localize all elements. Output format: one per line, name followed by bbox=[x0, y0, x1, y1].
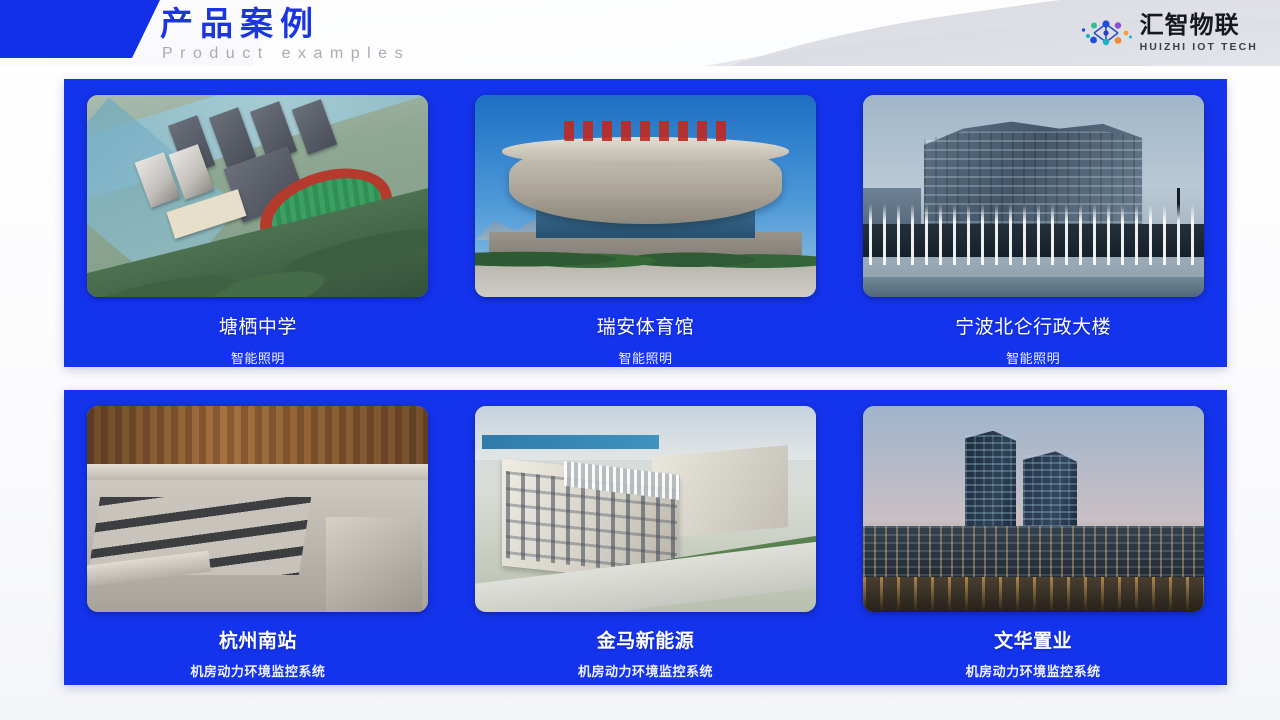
header-bottom-edge bbox=[0, 66, 1280, 72]
case-title: 宁波北仑行政大楼 bbox=[955, 312, 1111, 339]
molecule-network-icon bbox=[1080, 13, 1132, 53]
case-photo-hangzhou-south-station[interactable] bbox=[87, 406, 428, 612]
case-panel-row-2: 杭州南站 机房动力环境监控系统 金马新能源 bbox=[64, 390, 1227, 685]
case-subtitle: 机房动力环境监控系统 bbox=[966, 661, 1101, 680]
case-subtitle: 智能照明 bbox=[1006, 348, 1060, 367]
case-title: 杭州南站 bbox=[219, 626, 297, 653]
logo-text-block: 汇智物联 HUIZHI IOT TECH bbox=[1140, 14, 1258, 53]
case-card-tangqi-middle-school[interactable]: 塘栖中学 智能照明 bbox=[64, 79, 452, 367]
header-blue-tab bbox=[0, 0, 160, 58]
logo-name-en: HUIZHI IOT TECH bbox=[1140, 42, 1258, 53]
case-card-hangzhou-south-station[interactable]: 杭州南站 机房动力环境监控系统 bbox=[64, 390, 452, 685]
case-photo-ningbo-beilun-admin[interactable] bbox=[863, 95, 1204, 297]
case-subtitle: 智能照明 bbox=[231, 348, 285, 367]
case-title: 塘栖中学 bbox=[219, 312, 297, 339]
case-subtitle: 机房动力环境监控系统 bbox=[578, 661, 713, 680]
case-title: 瑞安体育馆 bbox=[597, 312, 695, 339]
page-subtitle: Product examples bbox=[162, 43, 410, 65]
case-card-list-2: 杭州南站 机房动力环境监控系统 金马新能源 bbox=[64, 390, 1227, 685]
slide-header: 产品案例 Product examples bbox=[0, 0, 1280, 72]
slide-root: 产品案例 Product examples bbox=[0, 0, 1280, 720]
header-title-group: 产品案例 Product examples bbox=[160, 4, 410, 65]
case-photo-ruian-gymnasium[interactable] bbox=[475, 95, 816, 297]
brand-logo: 汇智物联 HUIZHI IOT TECH bbox=[1080, 13, 1258, 53]
page-title: 产品案例 bbox=[160, 4, 410, 44]
logo-name-cn: 汇智物联 bbox=[1140, 14, 1258, 38]
case-photo-jinma-new-energy[interactable] bbox=[475, 406, 816, 612]
case-panel-row-1: 塘栖中学 智能照明 瑞安体育馆 智 bbox=[64, 79, 1227, 367]
case-photo-tangqi-middle-school[interactable] bbox=[87, 95, 428, 297]
case-card-wenhua-realty[interactable]: 文华置业 机房动力环境监控系统 bbox=[839, 390, 1227, 685]
case-subtitle: 智能照明 bbox=[619, 348, 673, 367]
case-card-jinma-new-energy[interactable]: 金马新能源 机房动力环境监控系统 bbox=[452, 390, 840, 685]
case-photo-wenhua-realty[interactable] bbox=[863, 406, 1204, 612]
case-card-list-1: 塘栖中学 智能照明 瑞安体育馆 智 bbox=[64, 79, 1227, 367]
case-title: 金马新能源 bbox=[597, 626, 695, 653]
case-card-ruian-gymnasium[interactable]: 瑞安体育馆 智能照明 bbox=[452, 79, 840, 367]
case-card-ningbo-beilun-admin[interactable]: 宁波北仑行政大楼 智能照明 bbox=[839, 79, 1227, 367]
case-subtitle: 机房动力环境监控系统 bbox=[190, 661, 325, 680]
case-title: 文华置业 bbox=[994, 626, 1072, 653]
